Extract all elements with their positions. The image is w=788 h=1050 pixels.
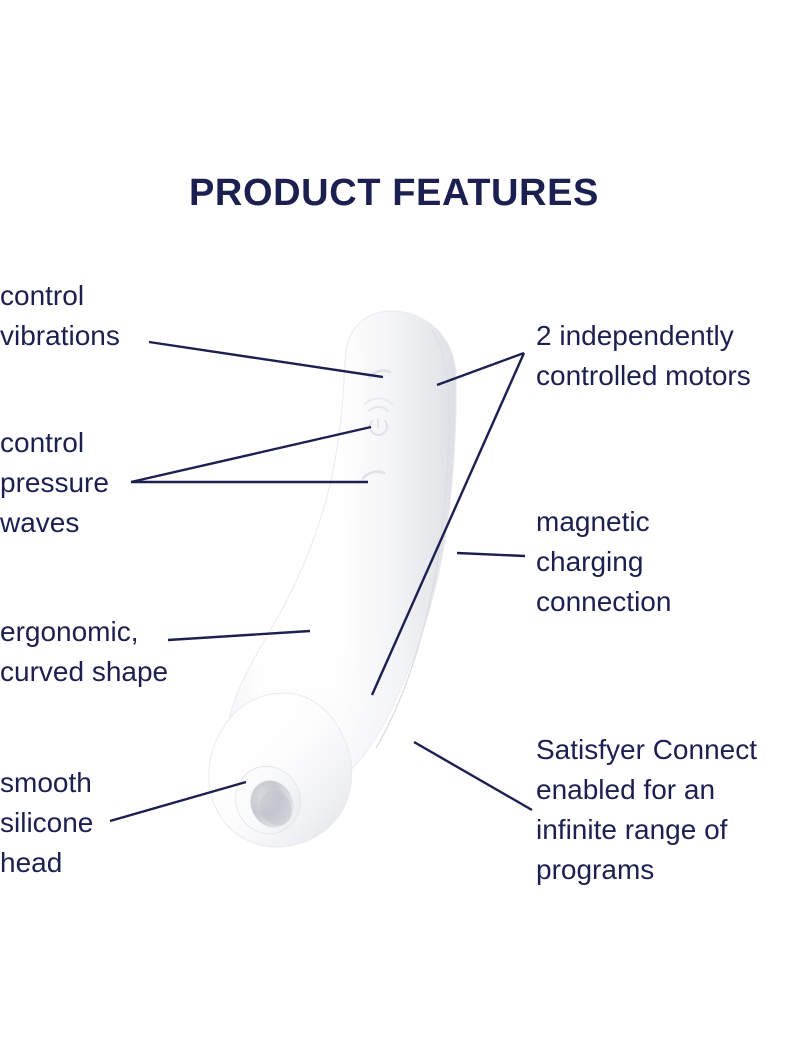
page-title: PRODUCT FEATURES (189, 172, 599, 214)
callout-satisfyer-connect-line3: infinite range of (536, 814, 728, 845)
callout-control-pressure-waves-line1: control (0, 427, 84, 458)
callout-smooth-silicone-head-line3: head (0, 847, 62, 878)
callout-smooth-silicone-head-line2: silicone (0, 807, 93, 838)
callout-satisfyer-connect-programs: Satisfyer Connect enabled for an infinit… (536, 734, 757, 885)
callout-motors-line1: 2 independently (536, 320, 734, 351)
product-illustration (209, 311, 456, 847)
callout-two-independently-controlled-motors: 2 independently controlled motors (536, 320, 751, 391)
callout-satisfyer-connect-line4: programs (536, 854, 654, 885)
callout-control-pressure-waves-line2: pressure (0, 467, 109, 498)
callout-magnetic-charging-connection: magnetic charging connection (536, 506, 671, 617)
left-callouts: control vibrations control pressure wave… (0, 280, 168, 878)
callout-control-vibrations-line2: vibrations (0, 320, 120, 351)
callout-ergonomic-curved-shape-line1: ergonomic, (0, 616, 139, 647)
callout-satisfyer-connect-line1: Satisfyer Connect (536, 734, 757, 765)
callout-smooth-silicone-head-line1: smooth (0, 767, 92, 798)
leader-line-magnetic-charging (457, 553, 525, 556)
callout-magnetic-charging-line3: connection (536, 586, 671, 617)
leader-line-satisfyer-connect (414, 742, 532, 810)
product-features-diagram: PRODUCT FEATURES (0, 0, 788, 1050)
callout-motors-line2: controlled motors (536, 360, 751, 391)
callout-control-pressure-waves: control pressure waves (0, 427, 109, 538)
callout-satisfyer-connect-line2: enabled for an (536, 774, 715, 805)
product-features-infographic: PRODUCT FEATURES (0, 0, 788, 1050)
callout-control-pressure-waves-line3: waves (0, 507, 79, 538)
callout-ergonomic-curved-shape: ergonomic, curved shape (0, 616, 168, 687)
callout-ergonomic-curved-shape-line2: curved shape (0, 656, 168, 687)
callout-control-vibrations: control vibrations (0, 280, 120, 351)
right-callouts: 2 independently controlled motors magnet… (536, 320, 757, 885)
callout-smooth-silicone-head: smooth silicone head (0, 767, 93, 878)
callout-magnetic-charging-line2: charging (536, 546, 643, 577)
callout-magnetic-charging-line1: magnetic (536, 506, 650, 537)
callout-control-vibrations-line1: control (0, 280, 84, 311)
